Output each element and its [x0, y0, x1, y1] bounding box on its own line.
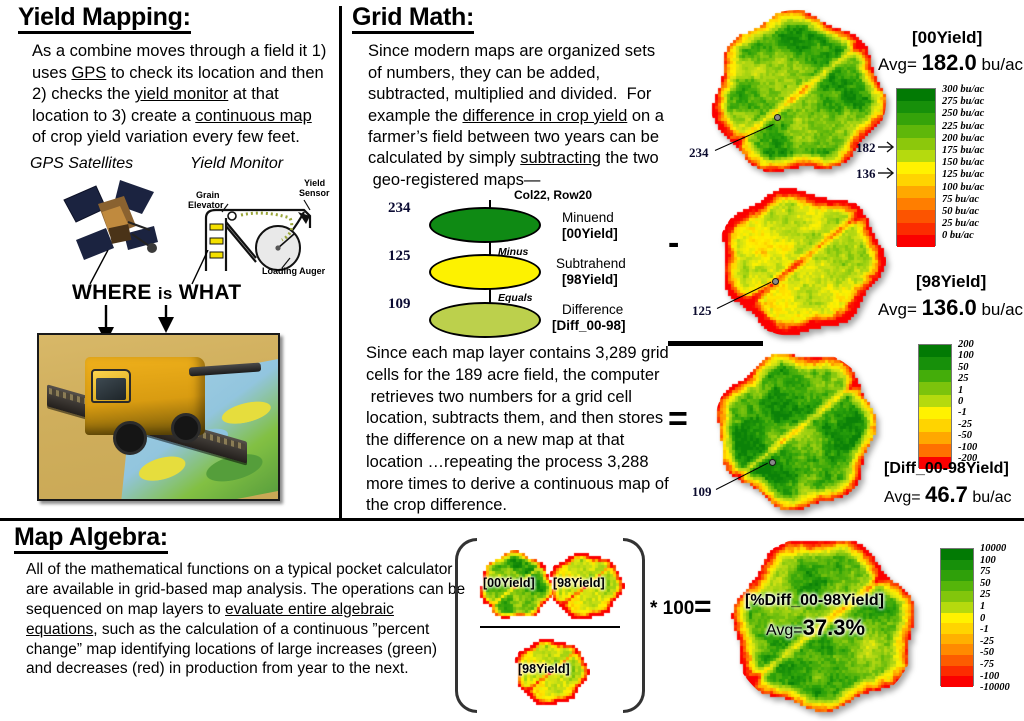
- legend-swatch: [941, 549, 973, 560]
- legend-swatch: [897, 223, 935, 235]
- map-title-pctdiff: [%Diff_00-98Yield]: [745, 592, 884, 610]
- legend-label: 25: [958, 373, 977, 384]
- legend-swatch: [919, 444, 951, 456]
- connector-equals-label: Equals: [498, 292, 532, 304]
- grid-math-paragraph-2: Since each map layer contains 3,289 grid…: [366, 343, 671, 517]
- percent-change-equation: [00Yield] - [98Yield] [98Yield]: [455, 538, 645, 713]
- arrow-right-icon: [878, 166, 896, 180]
- legend-label: 25: [980, 589, 1010, 601]
- legend-swatch: [897, 150, 935, 162]
- legend-label: 50: [980, 578, 1010, 590]
- map-average-diff: Avg= 46.7 bu/ac: [884, 482, 1012, 508]
- map-annotation-125: 125: [692, 303, 712, 319]
- legend-swatch: [897, 210, 935, 222]
- yield-mapping-section: Yield Mapping: As a combine moves throug…: [14, 4, 334, 148]
- legend-swatch: [897, 235, 935, 247]
- layer-value-98yield: 125: [388, 248, 411, 265]
- pointer-label-136: 136: [856, 166, 876, 182]
- legend-swatch: [941, 602, 973, 613]
- map-annotation-109: 109: [692, 484, 712, 500]
- mini-label-98yield-num: [98Yield]: [553, 576, 605, 590]
- annotation-point: [774, 114, 781, 121]
- legend-swatch: [897, 186, 935, 198]
- avg-prefix: Avg=: [878, 55, 917, 74]
- legend-label: 300 bu/ac: [942, 84, 984, 96]
- avg-value: 136.0: [922, 295, 977, 320]
- legend-swatch: [941, 613, 973, 624]
- svg-text:Yield: Yield: [304, 178, 325, 188]
- legend-swatch: [941, 655, 973, 666]
- legend-label: 25 bu/ac: [942, 218, 984, 230]
- avg-prefix: Avg=: [878, 300, 917, 319]
- avg-units: bu/ac: [981, 300, 1023, 319]
- combine-wheel-icon: [171, 413, 201, 443]
- minus-operator: -: [668, 226, 679, 260]
- legend-label: 0: [980, 613, 1010, 625]
- fraction-bar: [480, 626, 620, 628]
- legend-swatch: [897, 89, 935, 101]
- legend-swatch: [941, 570, 973, 581]
- slide-canvas: Yield Mapping: As a combine moves throug…: [0, 0, 1024, 721]
- grid-math-section: Grid Math: Since modern maps are organiz…: [352, 4, 682, 191]
- equation-rule: [668, 341, 763, 346]
- legend-label: -50: [958, 430, 977, 441]
- layer-cake-diagram: Col22, Row20 234 125 109 Minus Equals Mi…: [366, 192, 678, 332]
- legend-label: 225 bu/ac: [942, 121, 984, 133]
- annotation-point: [769, 459, 776, 466]
- where-word: WHERE: [72, 281, 152, 304]
- legend-swatch: [897, 113, 935, 125]
- map-average-98yield: Avg= 136.0 bu/ac: [878, 295, 1023, 321]
- avg-units: bu/ac: [981, 55, 1023, 74]
- yield-monitor-label: Yield Monitor: [190, 155, 283, 173]
- legend-swatch: [897, 101, 935, 113]
- cell-location-label: Col22, Row20: [514, 188, 592, 202]
- is-word: is: [158, 284, 173, 303]
- grid-math-paragraph: Since modern maps are organized sets of …: [368, 41, 668, 191]
- legend-label: 175 bu/ac: [942, 145, 984, 157]
- legend-label: 50 bu/ac: [942, 206, 984, 218]
- legend-label: -25: [980, 636, 1010, 648]
- legend-label: -100: [980, 671, 1010, 683]
- grid-math-title: Grid Math:: [352, 4, 474, 34]
- legend-label: 0 bu/ac: [942, 230, 984, 242]
- layer-value-00yield: 234: [388, 200, 411, 217]
- combine-cab-icon: [91, 369, 131, 403]
- legend-label: 250 bu/ac: [942, 108, 984, 120]
- legend-swatch: [919, 432, 951, 444]
- annotation-point: [772, 278, 779, 285]
- legend-swatch: [897, 198, 935, 210]
- arrow-right-icon: [878, 140, 896, 154]
- svg-text:Elevator: Elevator: [188, 200, 224, 210]
- legend-label: 100 bu/ac: [942, 182, 984, 194]
- layer-map-00yield: [00Yield]: [562, 226, 618, 241]
- map-algebra-title: Map Algebra:: [14, 524, 168, 554]
- legend-label: 1: [958, 385, 977, 396]
- legend-label: -100: [958, 442, 977, 453]
- avg-units: bu/ac: [972, 489, 1011, 506]
- map-algebra-paragraph: All of the mathematical functions on a t…: [26, 560, 466, 679]
- where-is-what-caption: WHERE is WHAT: [72, 281, 241, 305]
- avg-prefix: Avg=: [766, 622, 803, 639]
- legend-swatch: [897, 125, 935, 137]
- avg-value: 46.7: [925, 482, 968, 507]
- legend-label: 275 bu/ac: [942, 96, 984, 108]
- what-word: WHAT: [179, 281, 242, 304]
- legend-swatch: [919, 357, 951, 369]
- legend-swatch: [897, 174, 935, 186]
- legend-label: 200 bu/ac: [942, 133, 984, 145]
- legend-label: 150 bu/ac: [942, 157, 984, 169]
- bracket-right-icon: [623, 538, 645, 713]
- legend-label: -75: [980, 659, 1010, 671]
- legend-swatch: [919, 395, 951, 407]
- combine-harvester-photo: [37, 333, 280, 501]
- legend-swatch: [919, 382, 951, 394]
- legend-swatch: [919, 407, 951, 419]
- legend-swatch: [941, 581, 973, 592]
- legend-swatch: [941, 644, 973, 655]
- legend-label: -50: [980, 647, 1010, 659]
- equals-operator: =: [668, 402, 688, 436]
- layer-role-subtrahend: Subtrahend: [556, 256, 626, 271]
- yield-mapping-paragraph: As a combine moves through a field it 1)…: [32, 41, 328, 148]
- gps-satellites-label: GPS Satellites: [30, 155, 133, 173]
- avg-value: 37.3%: [803, 615, 865, 640]
- legend-label: 75 bu/ac: [942, 194, 984, 206]
- field-map-diff[interactable]: [714, 348, 880, 512]
- map-title-00yield: [00Yield]: [912, 28, 982, 48]
- legend-diff-scale: 200100502510-1-25-50-100-200: [918, 344, 1018, 474]
- legend-swatch: [919, 419, 951, 431]
- legend-swatch: [941, 676, 973, 687]
- legend-label: -1: [980, 624, 1010, 636]
- bracket-left-icon: [455, 538, 477, 713]
- svg-text:Grain: Grain: [196, 190, 220, 200]
- multiply-by-100-label: * 100: [650, 598, 694, 620]
- avg-prefix: Avg=: [884, 489, 921, 506]
- legend-swatch: [941, 634, 973, 645]
- legend-swatch: [941, 560, 973, 571]
- legend-swatch: [919, 345, 951, 357]
- layer-ellipse-diff: [429, 302, 541, 338]
- legend-label: 50: [958, 362, 977, 373]
- legend-swatch: [897, 162, 935, 174]
- layer-role-minuend: Minuend: [562, 210, 614, 225]
- legend-label: 1: [980, 601, 1010, 613]
- legend-swatch: [897, 138, 935, 150]
- map-average-00yield: Avg= 182.0 bu/ac: [878, 50, 1023, 76]
- pointer-label-182: 182: [856, 140, 876, 156]
- layer-value-diff: 109: [388, 296, 411, 313]
- legend-pctdiff-scale: 1000010075502510-1-25-50-75-100-10000: [940, 548, 1024, 698]
- legend-label: 10000: [980, 543, 1010, 555]
- legend-label: 75: [980, 566, 1010, 578]
- map-title-diff: [Diff_00-98Yield]: [884, 460, 1009, 478]
- svg-text:Sensor: Sensor: [299, 188, 330, 198]
- final-equals-operator: =: [694, 590, 712, 624]
- layer-map-diff: [Diff_00-98]: [552, 318, 626, 333]
- legend-swatch: [941, 623, 973, 634]
- field-map-98yield[interactable]: [716, 185, 886, 337]
- legend-label: -10000: [980, 682, 1010, 694]
- mini-label-00yield: [00Yield]: [483, 576, 535, 590]
- vertical-divider: [339, 6, 342, 518]
- map-title-98yield: [98Yield]: [916, 272, 986, 292]
- layer-ellipse-98yield: [429, 254, 541, 290]
- map-annotation-234: 234: [689, 145, 709, 161]
- yield-mapping-title: Yield Mapping:: [18, 4, 191, 34]
- layer-role-difference: Difference: [562, 302, 623, 317]
- legend-label: 125 bu/ac: [942, 169, 984, 181]
- horizontal-divider: [0, 518, 1024, 521]
- avg-value: 182.0: [922, 50, 977, 75]
- legend-label: 100: [980, 555, 1010, 567]
- connector-minus-label: Minus: [498, 246, 528, 258]
- legend-swatch: [919, 370, 951, 382]
- legend-label: 0: [958, 396, 977, 407]
- legend-swatch: [941, 591, 973, 602]
- map-average-pctdiff: Avg=37.3%: [766, 615, 865, 641]
- mini-label-98yield-den: [98Yield]: [518, 662, 570, 676]
- map-algebra-section: Map Algebra: All of the mathematical fun…: [14, 524, 464, 679]
- combine-wheel-icon: [113, 421, 147, 455]
- legend-swatch: [941, 666, 973, 677]
- legend-label: -25: [958, 419, 977, 430]
- layer-map-98yield: [98Yield]: [562, 272, 618, 287]
- layer-ellipse-00yield: [429, 207, 541, 243]
- legend-label: 200: [958, 339, 977, 350]
- legend-label: -1: [958, 407, 977, 418]
- legend-yield-scale: 300 bu/ac275 bu/ac250 bu/ac225 bu/ac200 …: [896, 88, 1016, 248]
- legend-label: 100: [958, 350, 977, 361]
